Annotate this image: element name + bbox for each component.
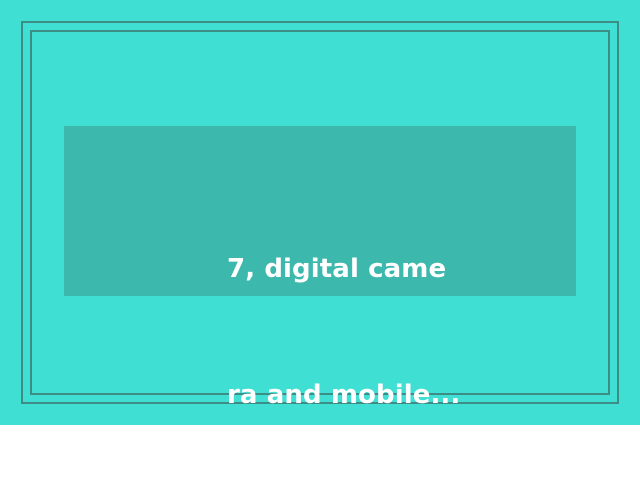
placeholder-card-canvas: 7, digital came ra and mobile... [0, 0, 640, 425]
content-panel: 7, digital came ra and mobile... [64, 126, 576, 296]
panel-text-block: 7, digital came ra and mobile... [227, 164, 557, 500]
panel-text-line-2: ra and mobile... [227, 374, 557, 416]
panel-text-line-1: 7, digital came [227, 248, 557, 290]
